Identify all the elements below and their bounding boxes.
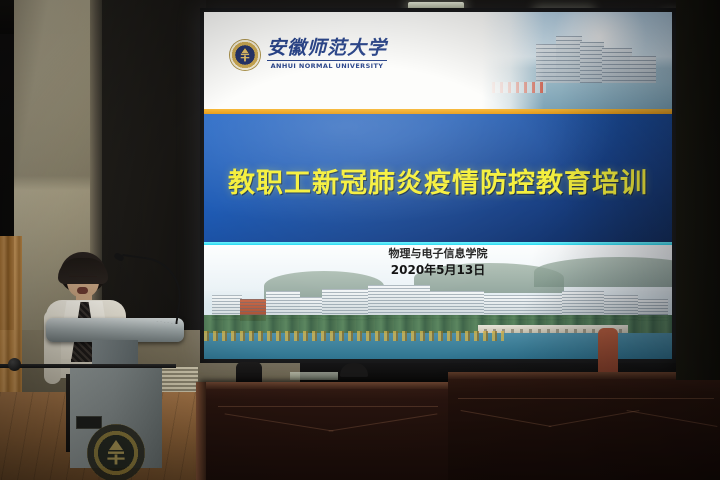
slide-title: 教职工新冠肺炎疫情防控教育培训 bbox=[204, 161, 672, 200]
slide-header: 安徽师范大学 ANHUI NORMAL UNIVERSITY bbox=[204, 12, 672, 109]
lectern-nameplate bbox=[76, 416, 102, 429]
presentation-slide: 安徽师范大学 ANHUI NORMAL UNIVERSITY 教职工新冠肺炎疫情… bbox=[204, 12, 672, 359]
papers-on-desk bbox=[290, 372, 338, 380]
campus-waterfront-building-photo bbox=[482, 12, 672, 109]
slide-subtitle-org: 物理与电子信息学院 bbox=[204, 246, 672, 262]
university-name-en: ANHUI NORMAL UNIVERSITY bbox=[267, 60, 387, 70]
desk-microphone-head bbox=[8, 358, 21, 371]
seal-figure-glyph bbox=[239, 47, 252, 63]
lecture-hall-scene: 安徽师范大学 ANHUI NORMAL UNIVERSITY 教职工新冠肺炎疫情… bbox=[0, 0, 720, 480]
lectern-body bbox=[70, 364, 162, 468]
anhui-normal-university-podium-seal bbox=[87, 424, 145, 480]
slide-title-band: 教职工新冠肺炎疫情防控教育培训 bbox=[204, 114, 672, 242]
university-name-cn: 安徽师范大学 bbox=[267, 39, 387, 58]
lectern bbox=[68, 318, 162, 468]
audience-desk bbox=[200, 382, 452, 480]
slide-subtitle-date: 2020年5月13日 bbox=[204, 262, 672, 279]
university-seal-icon bbox=[230, 40, 260, 70]
podium-seal-figure-glyph bbox=[105, 439, 127, 467]
lakeside-boats bbox=[204, 331, 504, 341]
desk-side-panel bbox=[196, 382, 206, 480]
cap-on-desk bbox=[340, 363, 368, 377]
university-logo: 安徽师范大学 ANHUI NORMAL UNIVERSITY bbox=[230, 39, 387, 70]
desk-microphone bbox=[0, 364, 176, 368]
slide-subtitle-block: 物理与电子信息学院 2020年5月13日 bbox=[204, 246, 672, 279]
university-name-block: 安徽师范大学 ANHUI NORMAL UNIVERSITY bbox=[267, 39, 387, 70]
mouth bbox=[77, 287, 88, 294]
right-dark-wall bbox=[676, 0, 720, 380]
lectern-column bbox=[92, 340, 138, 366]
audience-desk bbox=[448, 372, 720, 480]
photo-fade-mask bbox=[482, 12, 544, 109]
eyeglasses bbox=[69, 276, 97, 284]
